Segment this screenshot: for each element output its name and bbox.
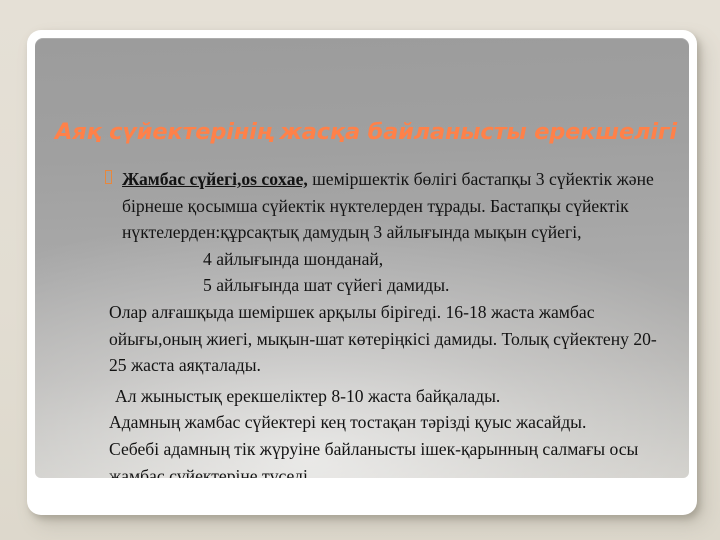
bullet-lead-term: Жамбас сүйегі,os coxae, [122, 169, 308, 189]
body-paragraph-4: Себебі адамның тік жүруіне байланысты іш… [35, 436, 689, 478]
slide-body: Жамбас сүйегі,os coxae, шеміршектік бөлі… [35, 166, 689, 478]
slide-content-panel: Аяқ сүйектерінің жасқа байланысты ерекше… [35, 38, 689, 478]
bullet-list-item: Жамбас сүйегі,os coxae, шеміршектік бөлі… [35, 166, 689, 246]
body-paragraph-2: Ал жыныстық ерекшеліктер 8-10 жаста байқ… [35, 383, 689, 410]
hollow-square-bullet-icon [105, 170, 112, 184]
body-paragraph-1: Олар алғашқыда шеміршек арқылы бірігеді.… [35, 299, 689, 379]
slide-title: Аяқ сүйектерінің жасқа байланысты ерекше… [55, 119, 689, 145]
indent-line-2: 5 айлығында шат сүйегі дамиды. [35, 272, 689, 299]
body-paragraph-3: Адамның жамбас сүйектері кең тостақан тә… [35, 409, 689, 436]
slide-card: Аяқ сүйектерінің жасқа байланысты ерекше… [27, 30, 697, 515]
slide-root: Аяқ сүйектерінің жасқа байланысты ерекше… [0, 0, 720, 540]
indent-line-1: 4 айлығында шонданай, [35, 246, 689, 273]
